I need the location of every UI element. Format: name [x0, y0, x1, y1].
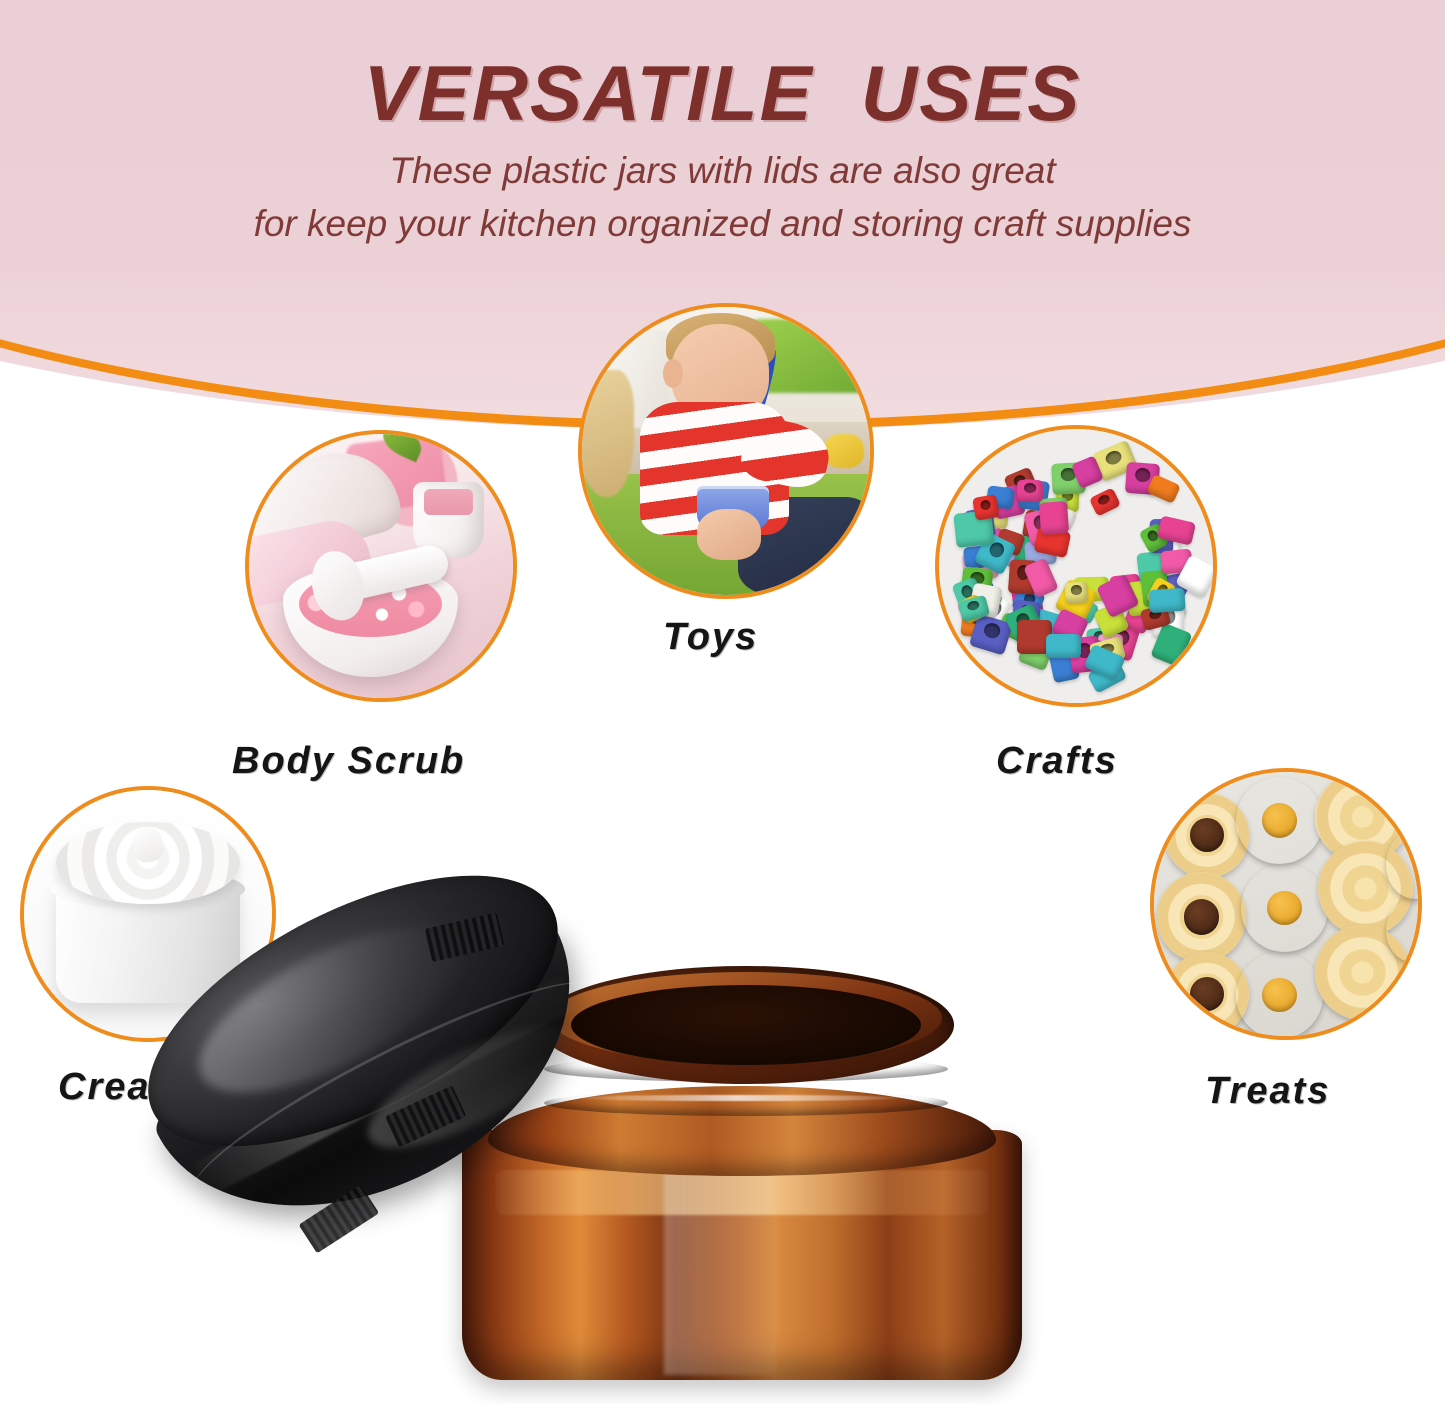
feature-label-toys: Toys: [663, 616, 758, 659]
bead: [1017, 480, 1043, 502]
feature-label-body-scrub: Body Scrub: [232, 740, 465, 783]
subtitle-line-2: for keep your kitchen organized and stor…: [0, 203, 1445, 245]
feature-photo-crafts: [935, 425, 1217, 707]
feature-photo-toys: [578, 303, 874, 599]
bead: [1039, 501, 1069, 535]
bead: [1148, 588, 1185, 614]
subtitle-line-1: These plastic jars with lids are also gr…: [0, 150, 1445, 192]
bead: [1064, 581, 1088, 603]
page-title: VERSATILE USES: [0, 48, 1445, 139]
bead: [1046, 634, 1081, 658]
feature-label-crafts: Crafts: [996, 740, 1118, 783]
product-hero: [0, 880, 1445, 1404]
bead: [1146, 473, 1181, 504]
feature-photo-body-scrub: [245, 430, 517, 702]
bead: [973, 494, 1000, 521]
versatile-uses-infographic: VERSATILE USES These plastic jars with l…: [0, 0, 1445, 1404]
bead: [1089, 487, 1121, 516]
